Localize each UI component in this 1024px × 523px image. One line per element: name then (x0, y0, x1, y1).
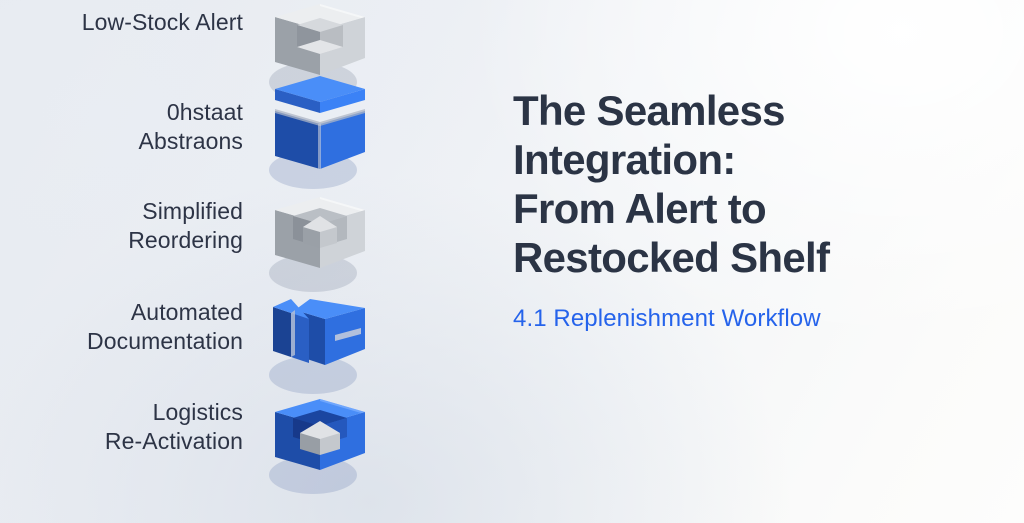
headline-block: The Seamless Integration: From Alert to … (513, 86, 983, 333)
step-label-automated-documentation: Automated Documentation (0, 298, 243, 356)
slide-canvas: Low-Stock Alert 0hstaat Abstraons Simpli… (0, 0, 1024, 523)
step-label-logistics-re-activation: Logistics Re-Activation (0, 398, 243, 456)
step-icon-column (255, 0, 395, 523)
step-label-low-stock-alert: Low-Stock Alert (0, 8, 243, 37)
step-label-simplified-reordering: Simplified Reordering (0, 197, 243, 255)
split-lid-cube-blue-icon (255, 78, 385, 196)
step-label-column: Low-Stock Alert 0hstaat Abstraons Simpli… (0, 0, 243, 523)
step-label-0hstaat-abstraons: 0hstaat Abstraons (0, 98, 243, 156)
page-title: The Seamless Integration: From Alert to … (513, 86, 983, 283)
frame-cube-blue-with-gray-core-icon (255, 383, 385, 501)
page-subtitle: 4.1 Replenishment Workflow (513, 305, 983, 333)
